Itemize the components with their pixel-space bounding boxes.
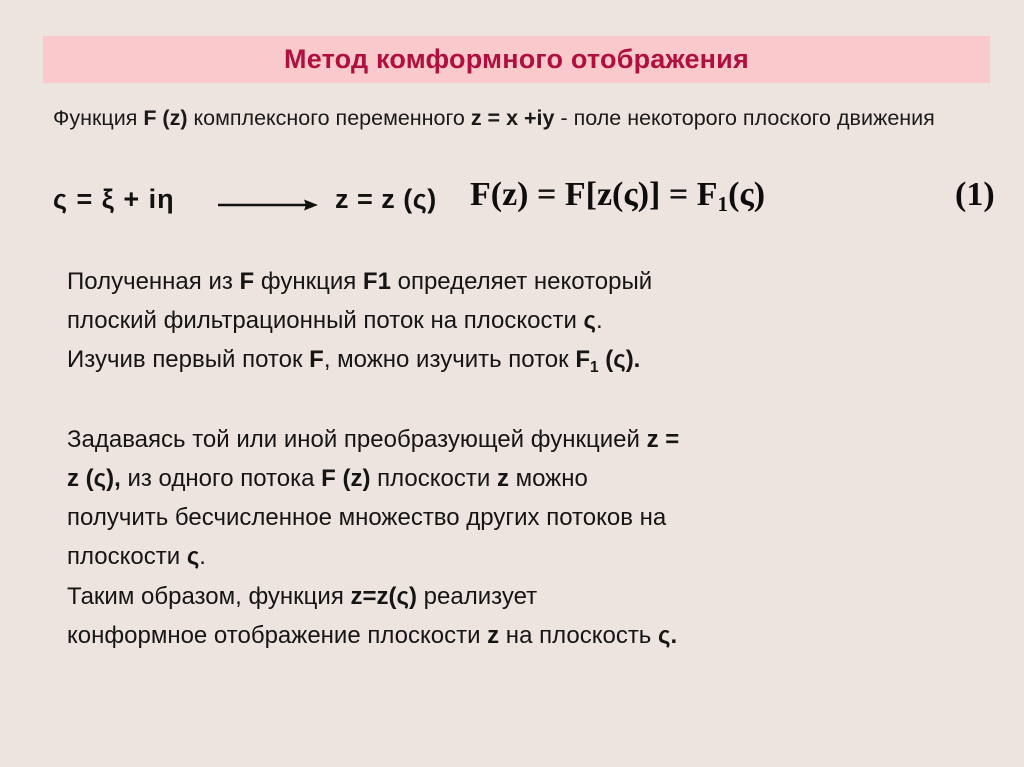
text-run: , можно изучить поток [324, 346, 576, 373]
text-run: (ς). [599, 346, 641, 373]
intro-text-1: Функция [53, 106, 143, 130]
paragraph-block-1: Полученная из F функция F1 определяет не… [67, 262, 972, 382]
text-run: z [487, 622, 499, 649]
paragraph-line: Задаваясь той или иной преобразующей фун… [67, 420, 972, 459]
text-run: F [575, 346, 590, 373]
formula-main-suffix: (ς) [728, 176, 765, 213]
formula-main-prefix: F(z) = F[z(ς)] = F [470, 176, 718, 213]
right-arrow-icon [218, 194, 318, 216]
text-run: реализует [417, 583, 537, 610]
text-run: z [497, 465, 509, 492]
text-run: определяет некоторый [391, 268, 652, 295]
intro-paragraph: Функция F (z) комплексного переменного z… [53, 103, 983, 133]
intro-text-2: комплексного переменного [188, 106, 471, 130]
paragraph-block-3: Таким образом, функция z=z(ς) реализуетк… [67, 577, 972, 655]
text-run: Таким образом, функция [67, 583, 351, 610]
paragraph-line: конформное отображение плоскости z на пл… [67, 616, 972, 655]
text-run: F [309, 346, 324, 373]
text-run: z (ς), [67, 465, 121, 492]
paragraph-line: плоский фильтрационный поток на плоскост… [67, 301, 972, 340]
intro-bold-1: F (z) [143, 106, 187, 130]
formula-main-subscript: 1 [718, 192, 729, 216]
paragraph-line: плоскости ς. [67, 537, 972, 576]
paragraph-line: получить бесчисленное множество других п… [67, 498, 972, 537]
page-title: Метод комформного отображения [284, 44, 749, 75]
text-run: функция [254, 268, 363, 295]
paragraph-line: Полученная из F функция F1 определяет не… [67, 262, 972, 301]
text-run: Полученная из [67, 268, 240, 295]
text-run: конформное отображение плоскости [67, 622, 487, 649]
text-run: ς [187, 543, 199, 570]
text-run: плоский фильтрационный поток на плоскост… [67, 307, 584, 334]
text-run: из одного потока [121, 465, 321, 492]
text-run: . [596, 307, 603, 334]
text-run: плоскости [370, 465, 496, 492]
text-run: Изучив первый поток [67, 346, 309, 373]
text-run: F1 [363, 268, 391, 295]
paragraph-line: z (ς), из одного потока F (z) плоскости … [67, 459, 972, 498]
formula-number: (1) [955, 176, 995, 214]
text-run: плоскости [67, 543, 187, 570]
paragraph-block-2: Задаваясь той или иной преобразующей фун… [67, 420, 972, 576]
text-run: z = [647, 426, 680, 453]
text-run: Задаваясь той или иной преобразующей фун… [67, 426, 647, 453]
title-banner: Метод комформного отображения [43, 36, 990, 83]
formula-main: F(z) = F[z(ς)] = F1(ς) [470, 176, 765, 214]
formula-mapping: z = z (ς) [335, 184, 437, 215]
intro-bold-2: z = x +iy [471, 106, 555, 130]
slide: Метод комформного отображения Функция F … [0, 0, 1024, 767]
text-run: z=z(ς) [351, 583, 417, 610]
text-run: на плоскость [499, 622, 658, 649]
text-run: ς. [658, 622, 677, 649]
formula-row: ς = ξ + iη z = z (ς) F(z) = F[z(ς)] = F1… [50, 182, 1010, 234]
intro-text-3: - поле некоторого плоского движения [554, 106, 934, 130]
text-run: получить бесчисленное множество других п… [67, 504, 666, 531]
text-run: ς [584, 307, 596, 334]
text-run: можно [509, 465, 588, 492]
text-run: F (z) [321, 465, 370, 492]
formula-left-expression: ς = ξ + iη [53, 184, 175, 215]
text-run: . [199, 543, 206, 570]
text-run: 1 [590, 359, 599, 376]
text-run: F [240, 268, 255, 295]
paragraph-line: Таким образом, функция z=z(ς) реализует [67, 577, 972, 616]
paragraph-line: Изучив первый поток F, можно изучить пот… [67, 340, 972, 382]
